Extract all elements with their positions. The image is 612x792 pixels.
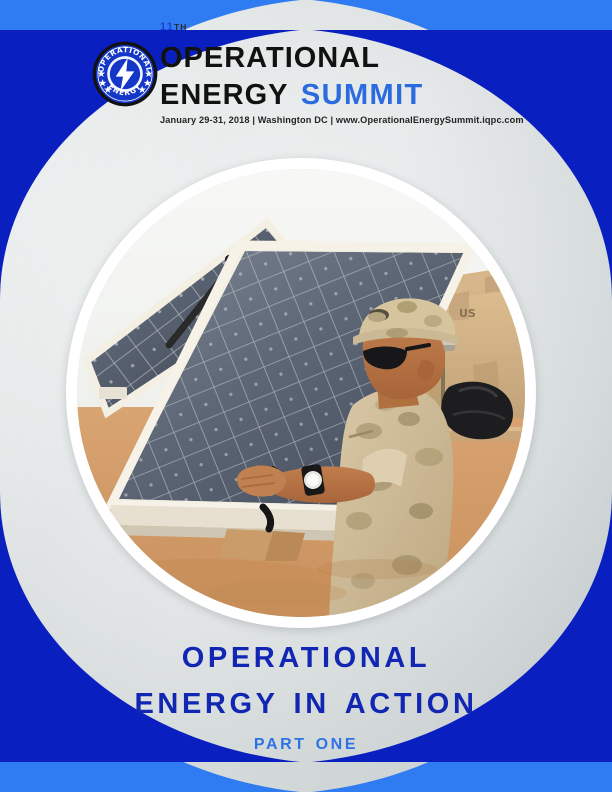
header-lockup: OPERATIONAL ENERGY 11TH Operation: [0, 0, 612, 134]
hero-photo: US: [77, 169, 525, 617]
operational-energy-badge-logo: OPERATIONAL ENERGY: [92, 41, 158, 107]
cover-title-subtitle: Part One: [0, 728, 612, 755]
cover-title-block: Operational Energy in Action Part One: [0, 630, 612, 755]
event-title-line-2: Energy Summit: [160, 71, 560, 110]
cover-title-line-2: Energy in Action: [0, 676, 612, 722]
event-title-energy: Energy: [160, 67, 288, 113]
cover-title-line-1: Operational: [0, 630, 612, 676]
cover-page: OPERATIONAL ENERGY 11TH Operation: [0, 0, 612, 792]
event-title-block: 11TH Operational Energy Summit January 2…: [160, 22, 560, 125]
event-title-summit: Summit: [301, 67, 424, 113]
svg-text:US: US: [459, 307, 476, 320]
event-tagline: January 29-31, 2018 | Washington DC | ww…: [160, 115, 560, 125]
hero-photo-ring: US: [66, 158, 536, 628]
